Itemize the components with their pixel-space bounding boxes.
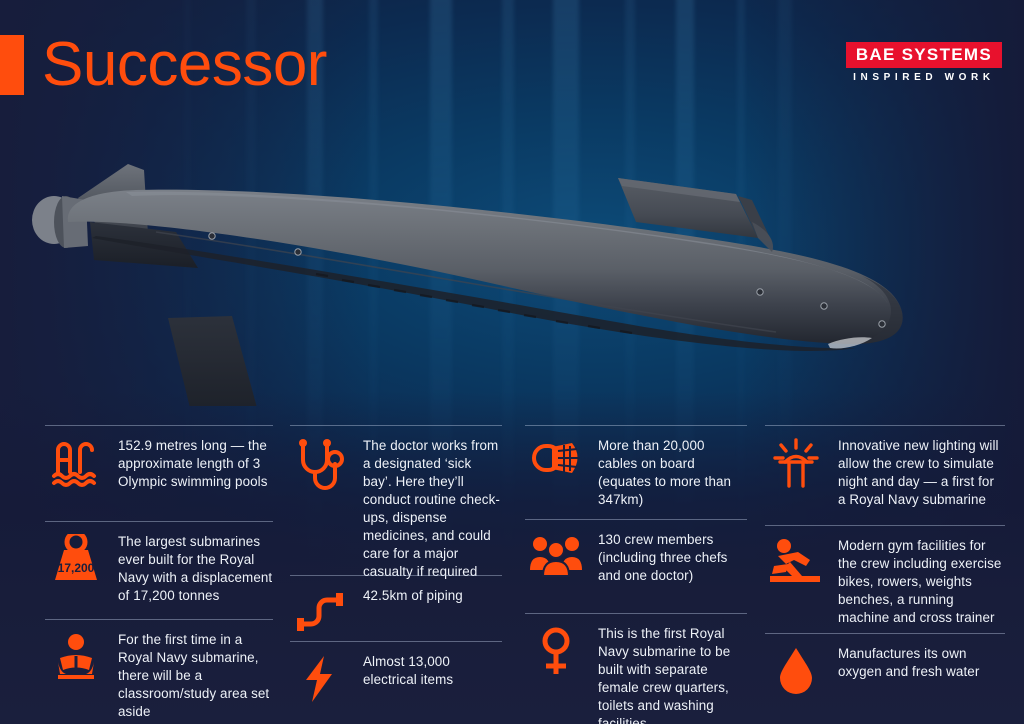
cable-bundle-icon [525,436,587,496]
fact-item: 130 crew members (including three chefs … [525,519,747,613]
fact-text: The doctor works from a designated ‘sick… [363,436,502,581]
crew-group-icon [525,530,587,590]
fact-item: 152.9 metres long — the approximate leng… [45,425,273,521]
fact-divider [525,519,747,520]
hull-port [821,303,827,309]
hull-port [879,321,885,327]
water-droplet-icon [765,644,827,704]
fact-divider [765,525,1005,526]
fact-item: For the first time in a Royal Navy subma… [45,619,273,721]
fact-text: Modern gym facilities for the crew inclu… [838,536,1005,627]
fact-text: Innovative new lighting will allow the c… [838,436,1005,509]
rowing-machine-icon [765,536,827,596]
fact-divider [45,521,273,522]
fact-item: This is the first Royal Navy submarine t… [525,613,747,724]
infographic-page: Successor BAE SYSTEMS INSPIRED WORK [0,0,1024,724]
fact-text: More than 20,000 cables on board (equate… [598,436,747,509]
fact-item: 42.5km of piping [290,575,502,641]
lightning-bolt-icon [290,652,352,712]
fact-divider [525,425,747,426]
weight-icon: 17,200 [45,532,107,592]
logo-bar: BAE SYSTEMS [846,42,1002,68]
fact-item: 17,200 The largest submarines ever built… [45,521,273,619]
submarine-illustration [16,126,916,406]
logo-tagline: INSPIRED WORK [846,73,1002,83]
student-reading-icon [45,630,107,690]
fact-item: More than 20,000 cables on board (equate… [525,425,747,519]
fact-text: The largest submarines ever built for th… [118,532,273,605]
fact-text: Manufactures its own oxygen and fresh wa… [838,644,1005,681]
fact-divider [45,425,273,426]
female-symbol-icon [525,624,587,684]
hull-port [757,289,763,295]
facts-column-4: Innovative new lighting will allow the c… [765,425,1005,704]
hull-port [295,249,301,255]
fact-item: The doctor works from a designated ‘sick… [290,425,502,575]
weight-icon-label: 17,200 [58,561,95,575]
piping-icon [290,586,352,646]
fact-item: Manufactures its own oxygen and fresh wa… [765,633,1005,704]
fact-divider [525,613,747,614]
fact-text: For the first time in a Royal Navy subma… [118,630,273,721]
fact-divider [290,425,502,426]
fact-text: 130 crew members (including three chefs … [598,530,747,585]
title-accent-square [0,35,24,95]
facts-column-1: 152.9 metres long — the approximate leng… [45,425,273,721]
fact-divider [290,641,502,642]
fact-text: 152.9 metres long — the approximate leng… [118,436,273,491]
facts-column-2: The doctor works from a designated ‘sick… [290,425,502,712]
fact-item: Innovative new lighting will allow the c… [765,425,1005,525]
fact-divider [765,425,1005,426]
fact-text: Almost 13,000 electrical items [363,652,502,689]
fact-item: Modern gym facilities for the crew inclu… [765,525,1005,633]
page-title-block: Successor [0,34,327,96]
fact-text: This is the first Royal Navy submarine t… [598,624,747,724]
facts-column-3: More than 20,000 cables on board (equate… [525,425,747,724]
fact-divider [290,575,502,576]
lighting-icon [765,436,827,496]
hull-port [209,233,215,239]
submarine-svg [16,126,916,406]
facts-grid: 152.9 metres long — the approximate leng… [0,425,1024,724]
stethoscope-icon [290,436,352,496]
fact-item: Almost 13,000 electrical items [290,641,502,712]
lower-rudder-fin [168,316,262,406]
fact-text: 42.5km of piping [363,586,463,605]
fact-divider [45,619,273,620]
swimming-pool-icon [45,436,107,496]
bae-systems-logo: BAE SYSTEMS INSPIRED WORK [846,42,1002,83]
page-title: Successor [42,34,327,96]
logo-name: BAE SYSTEMS [856,46,992,63]
fact-divider [765,633,1005,634]
